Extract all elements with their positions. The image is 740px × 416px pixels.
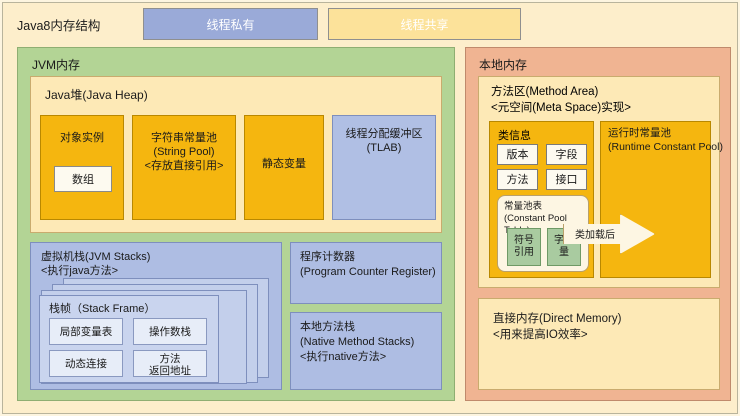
class-load-arrow-label: 类加载后 [569,226,621,241]
heap-static-variable-box: 静态变量 [244,115,324,220]
jvm-memory-panel: JVM内存 Java堆(Java Heap) 对象实例 数组 字符串常量池(St… [17,47,455,401]
class-info-chip-interface: 接口 [546,169,587,190]
jvm-stacks-panel: 虚拟机栈(JVM Stacks)<执行java方法> 栈帧（Stack Fram… [30,242,282,390]
class-info-chip-version: 版本 [497,144,538,165]
jvm-stacks-title: 虚拟机栈(JVM Stacks)<执行java方法> [41,250,150,279]
class-info-title: 类信息 [498,127,531,143]
class-info-chip-method: 方法 [497,169,538,190]
native-method-stacks-panel: 本地方法栈(Native Method Stacks)<执行native方法> [290,312,442,390]
class-info-chip-field: 字段 [546,144,587,165]
heap-string-pool-box: 字符串常量池(String Pool)<存放直接引用> [132,115,236,220]
heap-array-box: 数组 [54,166,112,192]
page-title: Java8内存结构 [17,15,147,37]
outer-card: Java8内存结构 线程私有 线程共享 JVM内存 Java堆(Java Hea… [2,2,738,414]
native-memory-title: 本地内存 [479,56,527,73]
heap-tlab-box: 线程分配缓冲区(TLAB) [332,115,436,220]
program-counter-register-panel: 程序计数器(Program Counter Register) [290,242,442,304]
legend-thread-shared: 线程共享 [328,8,521,40]
class-info-box: 类信息 版本 字段 方法 接口 常量池表(Constant Pool Table… [489,121,594,278]
return-address-box: 方法返回地址 [133,350,207,377]
heap-object-instance-label: 对象实例 [41,132,123,146]
symbolic-reference-box: 符号引用 [507,228,541,266]
heap-object-instance-box: 对象实例 数组 [40,115,124,220]
operand-stack-box: 操作数栈 [133,318,207,345]
direct-memory-panel: 直接内存(Direct Memory)<用来提高IO效率> [478,298,720,390]
legend-thread-private: 线程私有 [143,8,318,40]
stack-frame-title: 栈帧（Stack Frame） [49,300,155,316]
runtime-constant-pool-box: 运行时常量池(Runtime Constant Pool) [600,121,711,278]
heap-tlab-label: 线程分配缓冲区(TLAB) [333,128,435,156]
dynamic-linking-box: 动态连接 [49,350,123,377]
method-area-panel: 方法区(Method Area)<元空间(Meta Space)实现> 类信息 … [478,76,720,288]
stack-frame-box: 栈帧（Stack Frame） 局部变量表 操作数栈 动态连接 方法返回地址 [39,295,219,383]
local-variable-table-box: 局部变量表 [49,318,123,345]
program-counter-register-title: 程序计数器(Program Counter Register) [291,243,441,280]
java-heap-panel: Java堆(Java Heap) 对象实例 数组 字符串常量池(String P… [30,76,442,233]
runtime-constant-pool-title: 运行时常量池(Runtime Constant Pool) [608,127,723,154]
heap-static-variable-label: 静态变量 [245,158,323,172]
diagram-canvas: Java8内存结构 线程私有 线程共享 JVM内存 Java堆(Java Hea… [0,0,740,416]
native-method-stacks-title: 本地方法栈(Native Method Stacks)<执行native方法> [291,313,441,365]
heap-string-pool-label: 字符串常量池(String Pool)<存放直接引用> [133,132,235,173]
method-area-title: 方法区(Method Area)<元空间(Meta Space)实现> [491,85,631,116]
java-heap-title: Java堆(Java Heap) [45,86,148,103]
jvm-memory-title: JVM内存 [32,56,80,73]
direct-memory-title: 直接内存(Direct Memory)<用来提高IO效率> [479,299,719,343]
